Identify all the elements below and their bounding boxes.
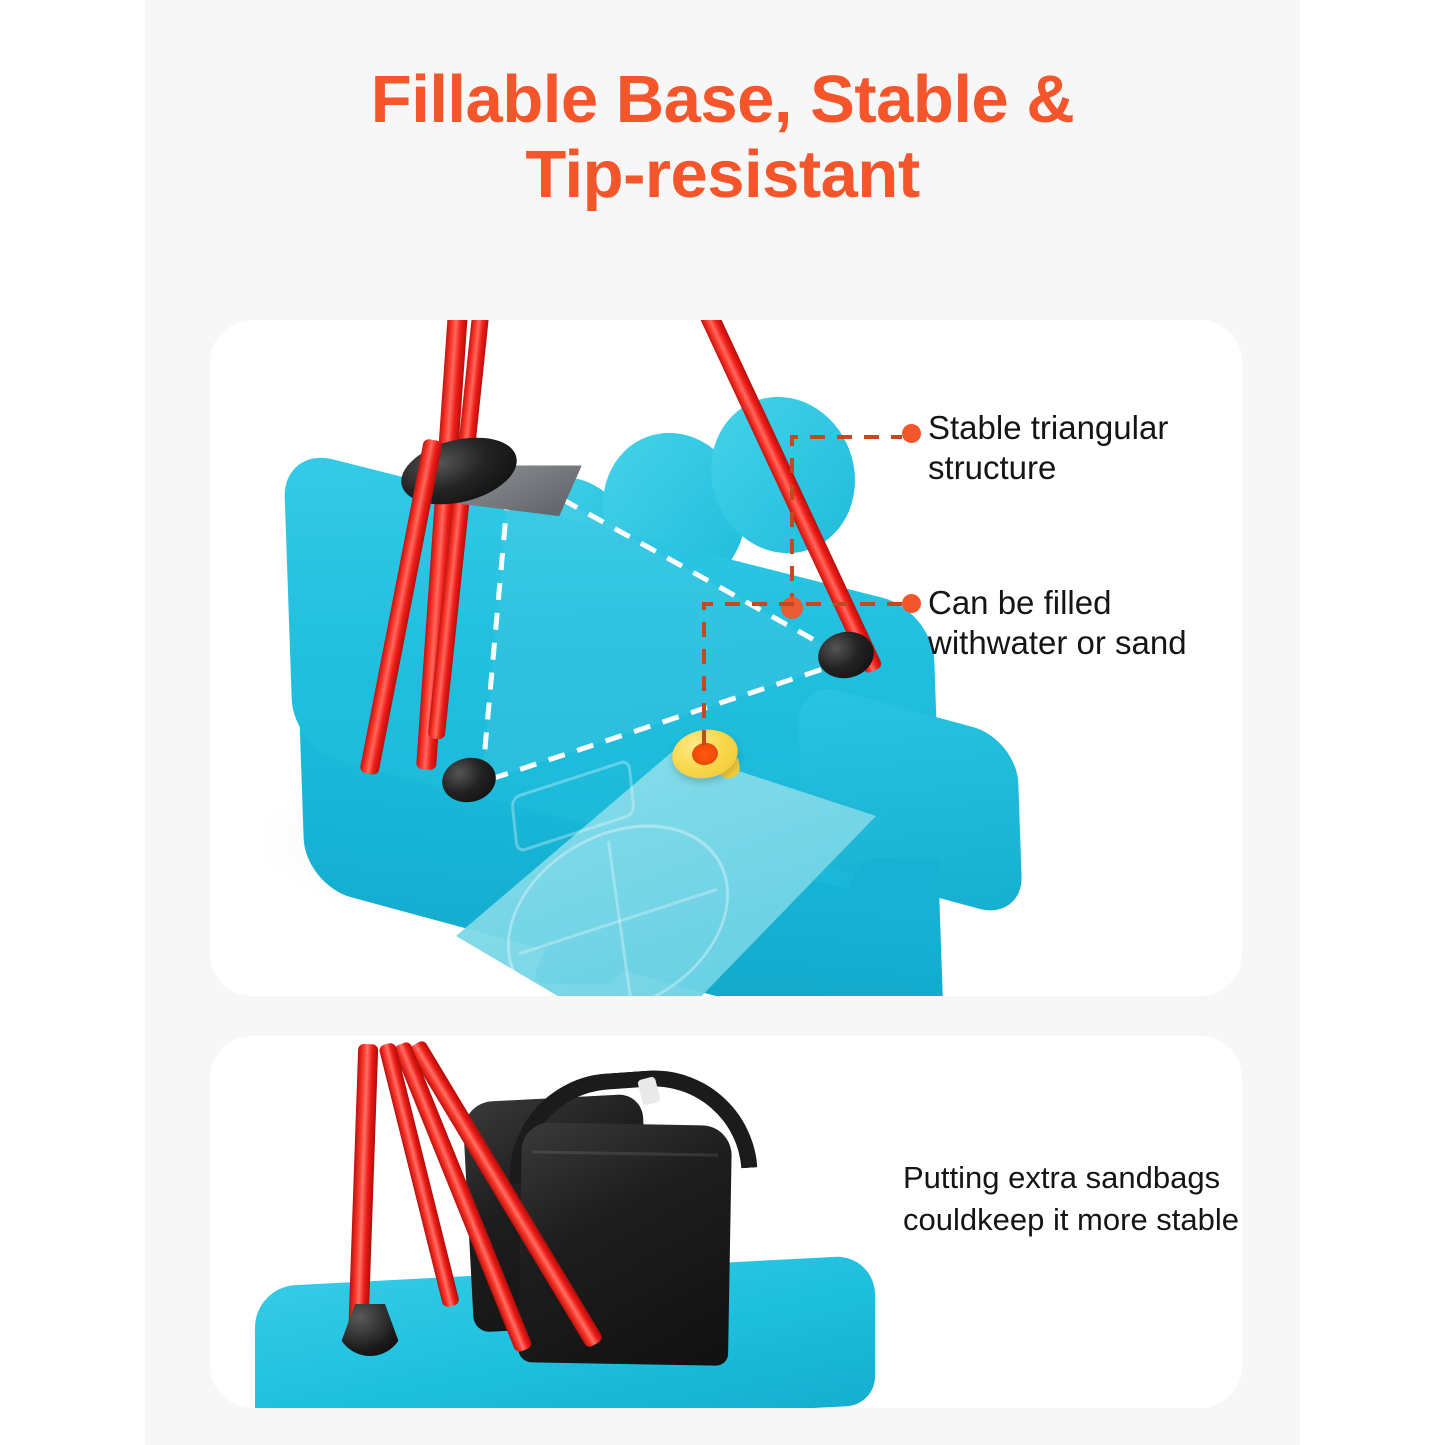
- callout-1-line-2: structure: [928, 448, 1228, 488]
- callout-stable-triangular-structure: Stable triangular structure: [928, 408, 1228, 489]
- page-title-line-2: Tip-resistant: [145, 137, 1300, 212]
- sandbag-caption: Putting extra sandbags couldkeep it more…: [903, 1157, 1243, 1241]
- callout-2-line-2: withwater or sand: [928, 623, 1228, 663]
- page-title: Fillable Base, Stable & Tip-resistant: [145, 62, 1300, 212]
- sandbag-caption-line-2: couldkeep it more stable: [903, 1199, 1243, 1241]
- sandbag-front: [518, 1122, 732, 1366]
- callout-2-line-1: Can be filled: [928, 583, 1228, 623]
- callout-can-be-filled: Can be filled withwater or sand: [928, 583, 1228, 664]
- callout-dot-stable-triangular: [902, 424, 921, 443]
- callout-1-line-1: Stable triangular: [928, 408, 1228, 448]
- infographic-page: Fillable Base, Stable & Tip-resistant: [0, 0, 1445, 1445]
- page-title-line-1: Fillable Base, Stable &: [371, 62, 1074, 137]
- callout-dot-can-be-filled: [902, 594, 921, 613]
- sandbag-caption-line-1: Putting extra sandbags: [903, 1157, 1243, 1199]
